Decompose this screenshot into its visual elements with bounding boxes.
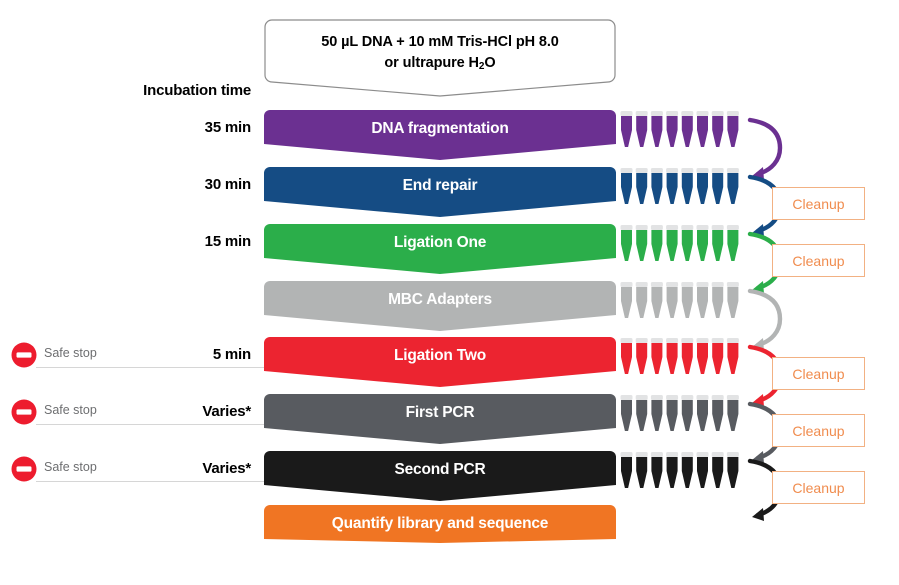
incubation-time-header: Incubation time [0, 82, 251, 99]
cleanup-box-first-pcr[interactable]: Cleanup [772, 414, 865, 447]
step-bar-second-pcr[interactable] [264, 451, 616, 501]
cleanup-box-second-pcr[interactable]: Cleanup [772, 471, 865, 504]
sample-line-2-pre: or ultrapure H [384, 55, 478, 71]
step-bar-ligation-one[interactable] [264, 224, 616, 274]
tube-rack-ligation-two [620, 338, 742, 374]
sample-input-box: 50 µL DNA + 10 mM Tris-HCl pH 8.0 or ult… [264, 19, 616, 97]
safe-stop-label-second-pcr: Safe stop [44, 460, 97, 474]
sample-line-2-post: O [484, 55, 495, 71]
sample-box-text: 50 µL DNA + 10 mM Tris-HCl pH 8.0 or ult… [264, 32, 616, 77]
safe-stop-rule-second-pcr [36, 481, 264, 482]
step-bar-ligation-two[interactable] [264, 337, 616, 387]
tube-rack-dna-fragmentation [620, 111, 742, 147]
tube-rack-second-pcr [620, 452, 742, 488]
safe-stop-label-first-pcr: Safe stop [44, 403, 97, 417]
cleanup-box-end-repair[interactable]: Cleanup [772, 187, 865, 220]
safe-stop-icon [10, 398, 38, 426]
tube-rack-ligation-one [620, 225, 742, 261]
time-label-dna-fragmentation: 35 min [0, 119, 251, 136]
safe-stop-rule-ligation-two [36, 367, 264, 368]
workflow-diagram: 50 µL DNA + 10 mM Tris-HCl pH 8.0 or ult… [0, 0, 899, 585]
time-label-end-repair: 30 min [0, 176, 251, 193]
step-bar-end-repair[interactable] [264, 167, 616, 217]
safe-stop-icon [10, 455, 38, 483]
time-label-ligation-one: 15 min [0, 233, 251, 250]
cleanup-box-ligation-one[interactable]: Cleanup [772, 244, 865, 277]
sample-line-1: 50 µL DNA + 10 mM Tris-HCl pH 8.0 [321, 34, 559, 50]
step-bar-first-pcr[interactable] [264, 394, 616, 444]
safe-stop-icon [10, 341, 38, 369]
tube-rack-first-pcr [620, 395, 742, 431]
safe-stop-label-ligation-two: Safe stop [44, 346, 97, 360]
safe-stop-rule-first-pcr [36, 424, 264, 425]
tube-rack-mbc-adapters [620, 282, 742, 318]
cleanup-box-ligation-two[interactable]: Cleanup [772, 357, 865, 390]
step-bar-dna-fragmentation[interactable] [264, 110, 616, 160]
tube-rack-end-repair [620, 168, 742, 204]
step-bar-mbc-adapters[interactable] [264, 281, 616, 331]
step-bar-quantify[interactable] [264, 505, 616, 555]
